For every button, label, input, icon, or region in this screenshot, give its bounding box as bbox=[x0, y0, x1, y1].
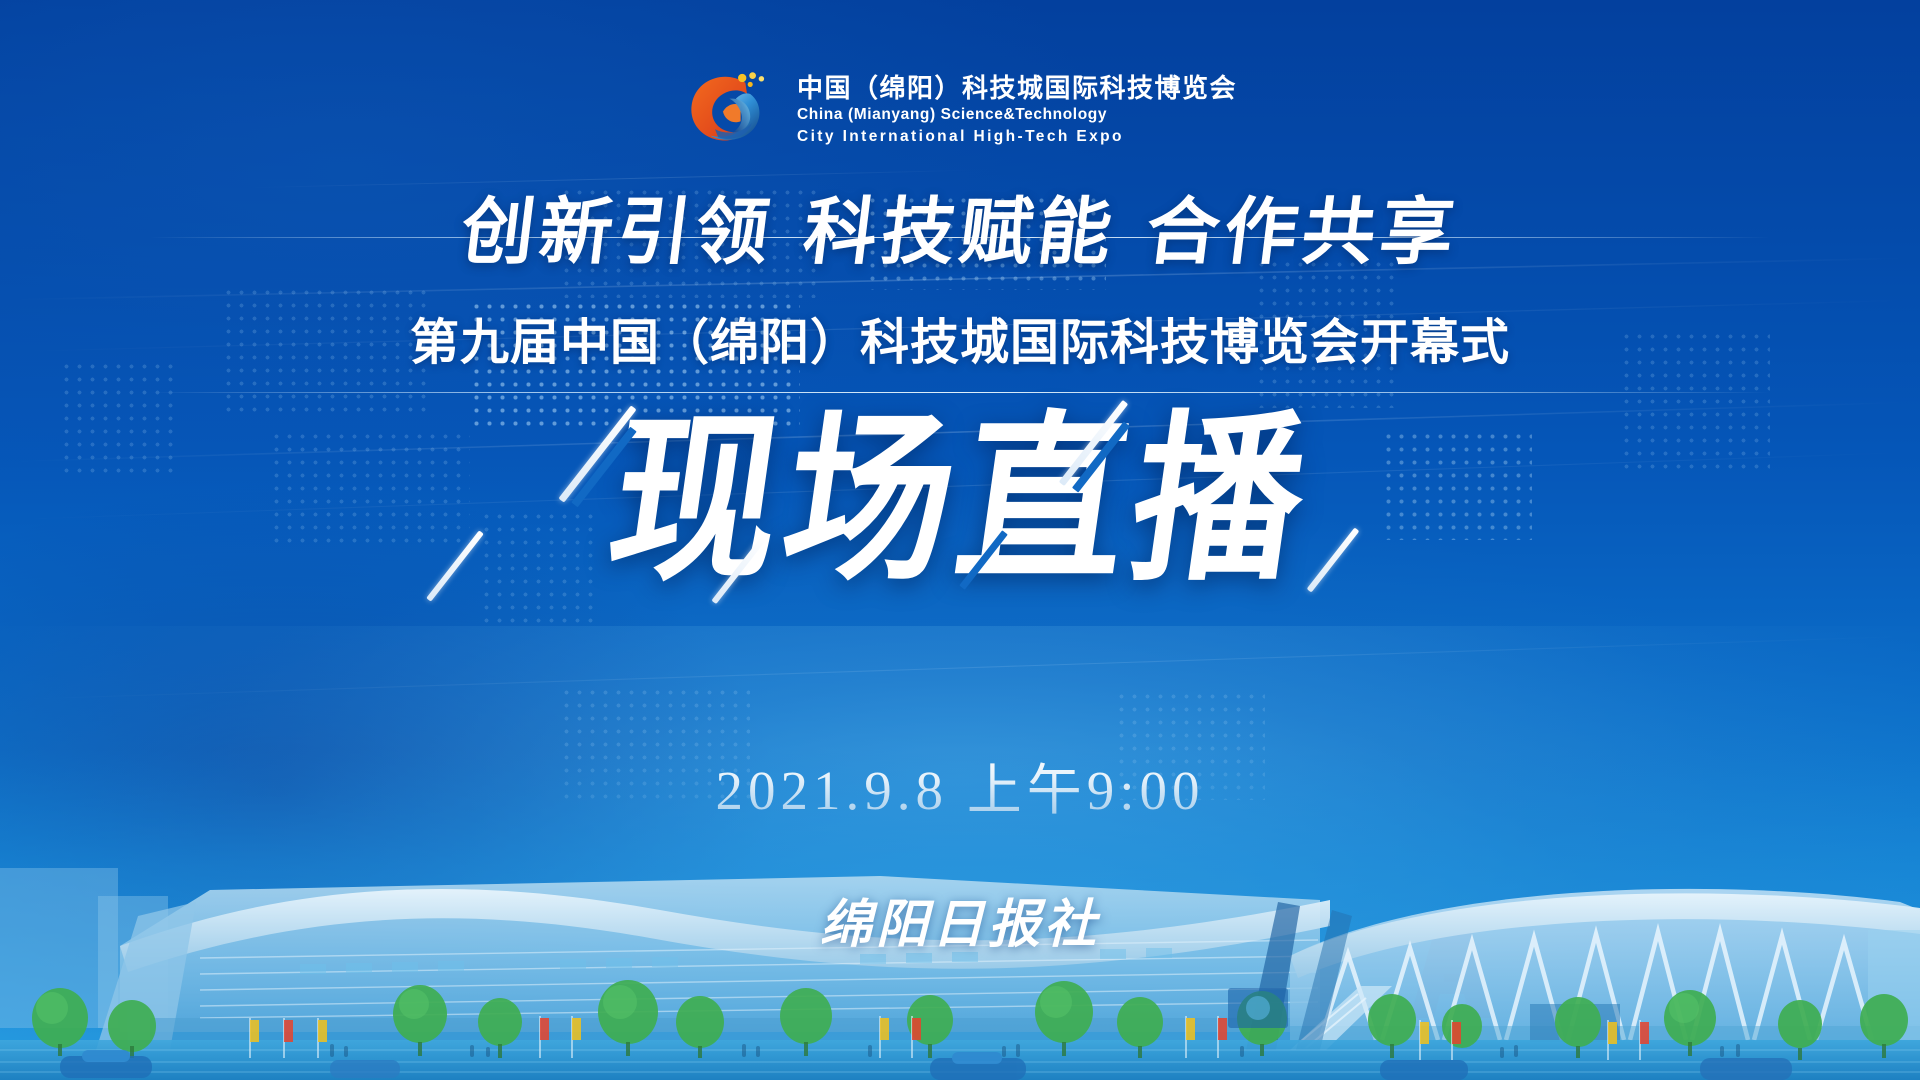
logo-english-line1: China (Mianyang) Science&Technology bbox=[797, 105, 1237, 124]
event-title-text: 第九届中国（绵阳）科技城国际科技博览会开幕式 bbox=[0, 318, 1920, 367]
headline-slash-3 bbox=[426, 530, 484, 601]
expo-logo-icon bbox=[683, 62, 779, 158]
livestream-poster: 中国（绵阳）科技城国际科技博览会 China (Mianyang) Scienc… bbox=[0, 0, 1920, 1080]
headline-block: 现场直播 bbox=[0, 405, 1920, 595]
headline-slash-5 bbox=[1307, 527, 1360, 592]
logo-english-line2: City International High-Tech Expo bbox=[797, 127, 1237, 146]
expo-logo-text: 中国（绵阳）科技城国际科技博览会 China (Mianyang) Scienc… bbox=[797, 74, 1237, 146]
publisher-watermark: 绵阳日报社 bbox=[0, 882, 1920, 957]
logo-chinese-name: 中国（绵阳）科技城国际科技博览会 bbox=[797, 74, 1237, 103]
headline-text: 现场直播 bbox=[599, 409, 1320, 590]
expo-logo-block: 中国（绵阳）科技城国际科技博览会 China (Mianyang) Scienc… bbox=[0, 62, 1920, 158]
slogan-text: 创新引领 科技赋能 合作共享 bbox=[0, 196, 1920, 269]
divider-line-lower bbox=[150, 392, 1770, 393]
